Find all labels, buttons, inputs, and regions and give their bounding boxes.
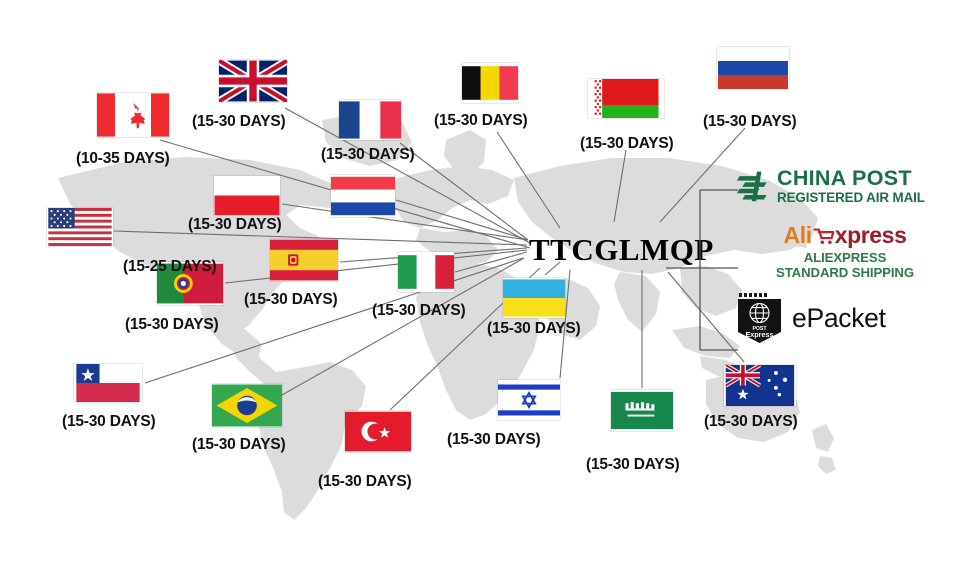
shipping-infographic: (10-35 DAYS)(15-30 DAYS)(15-30 DAYS)(15-…: [0, 0, 958, 561]
china-post-title: CHINA POST: [777, 168, 925, 190]
delivery-time-israel: (15-30 DAYS): [447, 431, 541, 449]
bracket-connector: [664, 180, 742, 380]
delivery-time-russia: (15-30 DAYS): [703, 113, 797, 131]
delivery-time-belarus: (15-30 DAYS): [580, 135, 674, 153]
epacket-label: ePacket: [792, 303, 886, 334]
flag-turkey: [345, 411, 411, 452]
aliexpress-sub-line2: STANDARD SHIPPING: [736, 266, 954, 281]
flag-saudi-arabia: [611, 390, 673, 431]
delivery-time-chile: (15-30 DAYS): [62, 413, 156, 431]
shipping-method-epacket[interactable]: POST Express ePacket: [736, 292, 886, 344]
shipping-method-aliexpress[interactable]: Ali xpress ALIEXPRESS STANDARD SHIPPING: [736, 224, 954, 281]
delivery-time-spain: (15-30 DAYS): [244, 291, 338, 309]
delivery-time-ukraine: (15-30 DAYS): [487, 320, 581, 338]
aliexpress-word-ali: Ali: [784, 224, 812, 247]
flag-netherlands: [331, 175, 395, 217]
china-post-mail-icon: [736, 168, 772, 204]
flag-italy: [398, 252, 454, 292]
shipping-method-china-post[interactable]: CHINA POST REGISTERED AIR MAIL: [736, 168, 925, 204]
flag-israel: [498, 380, 560, 420]
flag-united-kingdom: [219, 60, 287, 102]
flag-brazil: [212, 384, 282, 427]
delivery-time-portugal: (15-30 DAYS): [125, 316, 219, 334]
delivery-time-canada: (10-35 DAYS): [76, 150, 170, 168]
flag-poland: [214, 176, 280, 215]
delivery-time-belgium: (15-30 DAYS): [434, 112, 528, 130]
delivery-time-italy: (15-30 DAYS): [372, 302, 466, 320]
delivery-time-turkey: (15-30 DAYS): [318, 473, 412, 491]
flag-united-states: [47, 208, 113, 246]
shopping-cart-icon: [813, 226, 835, 245]
epacket-globe-icon: POST Express: [736, 292, 783, 344]
delivery-time-australia: (15-30 DAYS): [704, 413, 798, 431]
svg-text:Express: Express: [746, 330, 774, 339]
flag-belarus: [588, 79, 664, 118]
delivery-time-united-kingdom: (15-30 DAYS): [192, 113, 286, 131]
delivery-time-united-states: (15-25 DAYS): [123, 258, 217, 276]
delivery-time-poland: (15-30 DAYS): [188, 216, 282, 234]
aliexpress-word-xpress: xpress: [835, 224, 907, 247]
flag-chile: [74, 364, 142, 402]
flag-france: [339, 100, 401, 140]
aliexpress-sub-line1: ALIEXPRESS: [736, 251, 954, 266]
flag-ukraine: [503, 278, 565, 318]
flag-canada: [97, 93, 169, 137]
delivery-time-brazil: (15-30 DAYS): [192, 436, 286, 454]
delivery-time-france: (15-30 DAYS): [321, 146, 415, 164]
flag-russia: [717, 47, 789, 89]
flag-belgium: [462, 63, 518, 103]
flag-spain: [270, 239, 338, 281]
china-post-subtitle: REGISTERED AIR MAIL: [777, 191, 925, 204]
delivery-time-saudi-arabia: (15-30 DAYS): [586, 456, 680, 474]
